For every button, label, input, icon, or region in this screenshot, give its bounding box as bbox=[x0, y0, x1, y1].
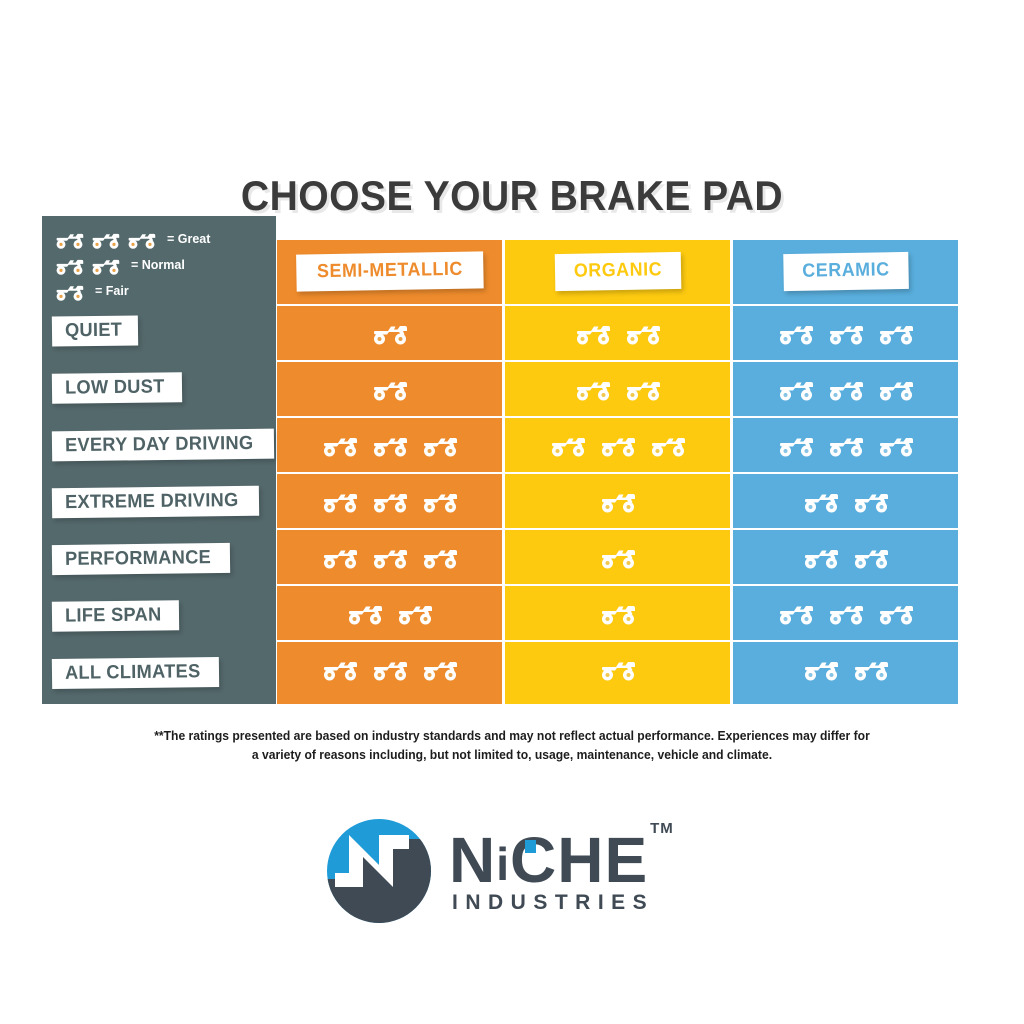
logo-letter-n: N bbox=[449, 824, 496, 896]
atv-icon bbox=[599, 544, 637, 570]
atv-icon bbox=[421, 432, 459, 458]
atv-icon bbox=[777, 600, 815, 626]
atv-icon bbox=[54, 229, 85, 250]
atv-icon bbox=[852, 544, 890, 570]
rating-cell bbox=[277, 360, 502, 416]
logo-wordmark-group: NiCHETM INDUSTRIES bbox=[449, 827, 672, 916]
atv-icon bbox=[371, 432, 409, 458]
row-label-text: QUIET bbox=[65, 320, 122, 343]
rating-cell bbox=[505, 584, 730, 640]
atv-icon bbox=[599, 656, 637, 682]
disclaimer-text: **The ratings presented are based on ind… bbox=[153, 727, 871, 766]
rating-cell bbox=[505, 528, 730, 584]
rating-cell bbox=[733, 472, 958, 528]
atv-icon bbox=[877, 320, 915, 346]
atv-icon bbox=[321, 488, 359, 514]
legend-label-fair: = Fair bbox=[95, 284, 129, 298]
niche-industries-logo: NiCHETM INDUSTRIES bbox=[325, 812, 715, 930]
atv-icon bbox=[371, 488, 409, 514]
rating-legend: = Great = Normal = Fair bbox=[54, 226, 270, 306]
row-label-text: EVERY DAY DRIVING bbox=[65, 433, 254, 457]
rating-cell bbox=[505, 472, 730, 528]
logo-trademark-symbol: TM bbox=[650, 820, 674, 837]
row-label-text: EXTREME DRIVING bbox=[65, 490, 239, 514]
atv-icon bbox=[624, 376, 662, 402]
logo-i-dot-icon bbox=[525, 840, 536, 853]
rating-cell bbox=[277, 640, 502, 696]
rating-cell bbox=[277, 416, 502, 472]
row-label-text: PERFORMANCE bbox=[65, 547, 211, 571]
legend-and-row-label-panel: = Great = Normal = Fair QUIET LOW DUST E… bbox=[42, 216, 276, 704]
atv-icon bbox=[827, 600, 865, 626]
row-label-life-span: LIFE SPAN bbox=[52, 600, 179, 632]
rating-cell bbox=[505, 304, 730, 360]
atv-icon bbox=[549, 432, 587, 458]
rating-cell bbox=[733, 360, 958, 416]
atv-icon bbox=[346, 600, 384, 626]
atv-icon bbox=[624, 320, 662, 346]
rating-cell bbox=[733, 416, 958, 472]
legend-row-normal: = Normal bbox=[54, 252, 270, 278]
row-label-performance: PERFORMANCE bbox=[52, 543, 230, 575]
atv-icon bbox=[54, 281, 85, 302]
legend-icons-fair bbox=[54, 281, 90, 302]
atv-icon bbox=[852, 656, 890, 682]
logo-letter-i: i bbox=[496, 838, 510, 890]
rating-cell bbox=[277, 304, 502, 360]
legend-row-great: = Great bbox=[54, 226, 270, 252]
brake-pad-comparison-chart: = Great = Normal = Fair QUIET LOW DUST E… bbox=[42, 216, 963, 704]
row-label-extreme-driving: EXTREME DRIVING bbox=[52, 486, 259, 519]
legend-label-great: = Great bbox=[167, 232, 210, 246]
atv-icon bbox=[421, 656, 459, 682]
column-header-organic: ORGANIC bbox=[505, 240, 730, 304]
rating-cell bbox=[505, 640, 730, 696]
column-header-semi-metallic: SEMI-METALLIC bbox=[277, 240, 502, 304]
column-header-plate-semi-metallic: SEMI-METALLIC bbox=[296, 251, 484, 291]
column-header-label: ORGANIC bbox=[573, 259, 662, 283]
row-label-low-dust: LOW DUST bbox=[52, 372, 182, 404]
rating-cell bbox=[733, 584, 958, 640]
atv-icon bbox=[371, 320, 409, 346]
atv-icon bbox=[802, 544, 840, 570]
row-label-all-climates: ALL CLIMATES bbox=[52, 657, 220, 689]
page-title: CHOOSE YOUR BRAKE PAD bbox=[36, 172, 988, 220]
atv-icon bbox=[877, 600, 915, 626]
atv-icon bbox=[421, 488, 459, 514]
legend-icons-great bbox=[54, 229, 162, 250]
column-header-plate-ceramic: CERAMIC bbox=[783, 252, 909, 291]
atv-icon bbox=[371, 656, 409, 682]
row-label-text: ALL CLIMATES bbox=[65, 661, 201, 685]
atv-icon bbox=[777, 320, 815, 346]
rating-cell bbox=[733, 528, 958, 584]
legend-row-fair: = Fair bbox=[54, 278, 270, 304]
logo-wordmark: NiCHETM bbox=[449, 831, 672, 890]
column-organic: ORGANIC bbox=[505, 240, 730, 704]
atv-icon bbox=[802, 488, 840, 514]
rating-cell bbox=[277, 528, 502, 584]
atv-icon bbox=[599, 600, 637, 626]
atv-icon bbox=[827, 320, 865, 346]
atv-icon bbox=[321, 656, 359, 682]
row-label-text: LIFE SPAN bbox=[65, 604, 162, 627]
row-label-quiet: QUIET bbox=[52, 315, 138, 346]
atv-icon bbox=[90, 255, 121, 276]
column-header-plate-organic: ORGANIC bbox=[554, 252, 681, 291]
atv-icon bbox=[421, 544, 459, 570]
atv-icon bbox=[777, 432, 815, 458]
atv-icon bbox=[599, 432, 637, 458]
rating-cell bbox=[733, 304, 958, 360]
atv-icon bbox=[802, 656, 840, 682]
atv-icon bbox=[126, 229, 157, 250]
atv-icon bbox=[827, 376, 865, 402]
rating-cell bbox=[277, 584, 502, 640]
rating-cell bbox=[277, 472, 502, 528]
column-header-ceramic: CERAMIC bbox=[733, 240, 958, 304]
atv-icon bbox=[371, 376, 409, 402]
atv-icon bbox=[574, 376, 612, 402]
atv-icon bbox=[852, 488, 890, 514]
atv-icon bbox=[574, 320, 612, 346]
atv-icon bbox=[827, 432, 865, 458]
rating-cell bbox=[733, 640, 958, 696]
legend-icons-normal bbox=[54, 255, 126, 276]
niche-logo-mark-icon bbox=[325, 817, 433, 925]
logo-letters-che: CHE bbox=[510, 824, 648, 896]
atv-icon bbox=[396, 600, 434, 626]
atv-icon bbox=[54, 255, 85, 276]
rating-cell bbox=[505, 360, 730, 416]
column-semi-metallic: SEMI-METALLIC bbox=[277, 240, 502, 704]
atv-icon bbox=[599, 488, 637, 514]
atv-icon bbox=[649, 432, 687, 458]
atv-icon bbox=[90, 229, 121, 250]
atv-icon bbox=[321, 544, 359, 570]
column-header-label: CERAMIC bbox=[802, 259, 890, 283]
row-label-text: LOW DUST bbox=[65, 376, 165, 399]
atv-icon bbox=[777, 376, 815, 402]
atv-icon bbox=[877, 432, 915, 458]
row-label-every-day-driving: EVERY DAY DRIVING bbox=[52, 429, 275, 462]
rating-cell bbox=[505, 416, 730, 472]
atv-icon bbox=[321, 432, 359, 458]
column-ceramic: CERAMIC bbox=[733, 240, 958, 704]
column-header-label: SEMI-METALLIC bbox=[316, 259, 462, 284]
atv-icon bbox=[371, 544, 409, 570]
atv-icon bbox=[877, 376, 915, 402]
legend-label-normal: = Normal bbox=[131, 258, 185, 272]
